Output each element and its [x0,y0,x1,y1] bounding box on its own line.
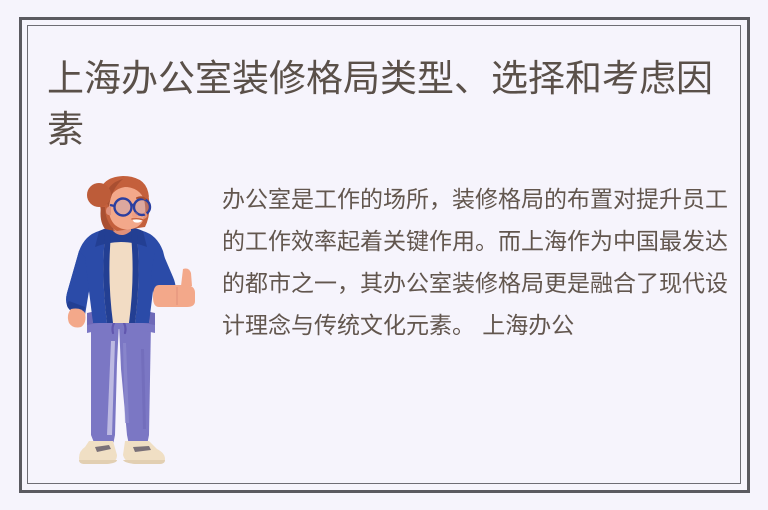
article-paragraph: 办公室是工作的场所，装修格局的布置对提升员工的工作效率起着关键作用。而上海作为中… [222,165,741,347]
page-title: 上海办公室装修格局类型、选择和考虑因素 [47,53,735,155]
card-content: 上海办公室装修格局类型、选择和考虑因素 [27,25,741,484]
standing-person-thumbs-up-icon [55,173,195,473]
illustration-container [27,165,222,484]
article-body-row: 办公室是工作的场所，装修格局的布置对提升员工的工作效率起着关键作用。而上海作为中… [27,165,741,484]
article-card-page: 上海办公室装修格局类型、选择和考虑因素 [0,0,768,510]
